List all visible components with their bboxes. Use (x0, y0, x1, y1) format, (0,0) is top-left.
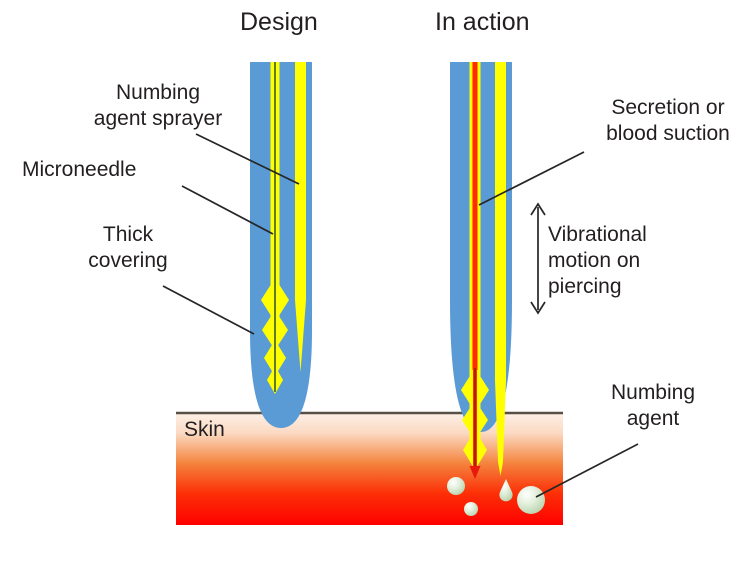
panel-title-design: Design (240, 8, 318, 37)
panel-title-in-action: In action (435, 8, 530, 37)
leader-thick-covering (163, 286, 254, 334)
vibration-arrow-icon (531, 204, 545, 313)
label-numbing-agent-sprayer: Numbing agent sprayer (58, 80, 258, 132)
design-device (250, 62, 312, 428)
droplet-2 (464, 502, 478, 516)
label-thick-covering: Thick covering (58, 222, 198, 274)
label-numbing-agent: Numbing agent (588, 380, 718, 432)
droplet-4 (517, 486, 545, 514)
diagram-canvas: Design In action Numbing agent sprayer M… (0, 0, 750, 563)
label-skin: Skin (184, 418, 225, 442)
action-sprayer-channel (495, 62, 506, 430)
label-vibrational-motion: Vibrational motion on piercing (548, 222, 678, 300)
label-secretion-or-blood-suction: Secretion or blood suction (588, 95, 748, 147)
blood-suction-channel (473, 62, 478, 382)
skin-block (176, 413, 563, 525)
droplet-1 (447, 477, 465, 495)
label-microneedle: Microneedle (22, 157, 202, 183)
